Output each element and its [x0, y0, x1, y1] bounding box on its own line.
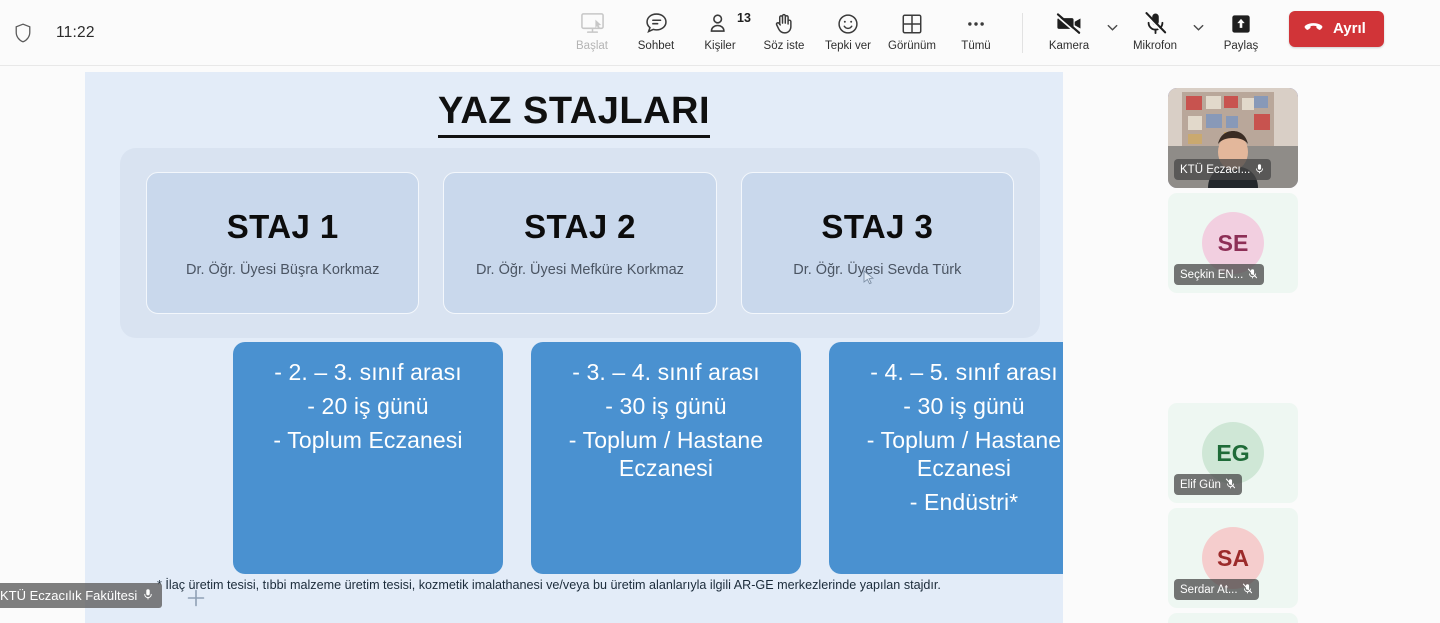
staj-3-instructor: Dr. Öğr. Üyesi Sevda Türk [793, 262, 961, 278]
toolbar-button-baslat[interactable]: Başlat [560, 0, 624, 52]
avatar-initials: EG [1216, 440, 1249, 467]
toolbar-button-mikrofon[interactable]: Mikrofon [1123, 0, 1187, 52]
toolbar-label-gorunum: Görünüm [888, 40, 936, 52]
presentation-slide: YAZ STAJLARI STAJ 1 Dr. Öğr. Üyesi Büşra… [85, 72, 1063, 623]
toolbar-label-tepki-ver: Tepki ver [825, 40, 871, 52]
toolbar-label-soz-iste: Söz iste [764, 40, 805, 52]
staj-2-instructor: Dr. Öğr. Üyesi Mefküre Korkmaz [476, 262, 684, 278]
camera-off-icon [1055, 9, 1084, 39]
people-count-badge: 13 [737, 11, 751, 25]
toolbar-right-group: Kamera Mikrofon [1037, 0, 1384, 66]
staj-detail-row: - 2. – 3. sınıf arası - 20 iş günü - Top… [233, 342, 1063, 574]
teams-meeting-window: 11:22 Başlat [0, 0, 1440, 623]
toolbar-label-tumu: Tümü [961, 40, 990, 52]
toolbar-label-paylas: Paylaş [1224, 40, 1259, 52]
grid-view-icon [899, 9, 925, 39]
participant-tile-empty [1168, 298, 1298, 398]
microphone-icon [1254, 163, 1265, 177]
people-icon: 13 [707, 9, 733, 39]
participant-name-pill: Elif Gün [1174, 474, 1242, 495]
staj-1-detail-line-1: - 2. – 3. sınıf arası [274, 358, 461, 386]
smiley-icon [835, 9, 861, 39]
participant-tile-eg[interactable]: EG Elif Gün [1168, 403, 1298, 503]
staj-3-detail-line-1: - 4. – 5. sınıf arası [870, 358, 1057, 386]
staj-detail-box-2: - 3. – 4. sınıf arası - 30 iş günü - Top… [531, 342, 801, 574]
mic-options-chevron-down-icon[interactable] [1187, 0, 1209, 50]
participant-rail: KTÜ Eczacı... SE Seçkin EN... [1160, 66, 1440, 623]
mouse-pointer-icon [863, 270, 875, 286]
participant-name: Elif Gün [1180, 479, 1221, 491]
toolbar-label-sohbet: Sohbet [638, 40, 674, 52]
staj-1-title: STAJ 1 [227, 208, 339, 246]
participant-name: KTÜ Eczacı... [1180, 164, 1250, 176]
toolbar-label-mikrofon: Mikrofon [1133, 40, 1177, 52]
meeting-clock: 11:22 [56, 24, 95, 42]
staj-header-card-2: STAJ 2 Dr. Öğr. Üyesi Mefküre Korkmaz [443, 172, 716, 314]
staj-1-detail-line-3: - Toplum Eczanesi [273, 426, 462, 454]
microphone-off-icon [1247, 268, 1258, 282]
share-tray-icon [1229, 9, 1253, 39]
leave-call-button[interactable]: Ayrıl [1289, 11, 1384, 47]
meeting-toolbar: 11:22 Başlat [0, 0, 1440, 66]
participant-tile-video-active[interactable]: KTÜ Eczacı... [1168, 88, 1298, 188]
microphone-off-icon [1143, 9, 1168, 39]
staj-2-detail-line-2: - 30 iş günü [605, 392, 726, 420]
avatar-initials: SA [1217, 545, 1249, 572]
self-view-name-pill: KTÜ Eczacılık Fakültesi [0, 583, 162, 608]
toolbar-label-baslat: Başlat [576, 40, 608, 52]
toolbar-label-kisiler: Kişiler [704, 40, 735, 52]
microphone-off-icon [1242, 583, 1253, 597]
staj-1-detail-line-2: - 20 iş günü [307, 392, 428, 420]
staj-3-detail-line-4: - Endüstri* [910, 488, 1018, 516]
slide-title: YAZ STAJLARI [85, 90, 1063, 133]
shield-icon [12, 21, 34, 45]
toolbar-center-actions: Başlat Sohbet 13 [560, 0, 1037, 66]
toolbar-button-kamera[interactable]: Kamera [1037, 0, 1101, 52]
toolbar-button-soz-iste[interactable]: Söz iste [752, 0, 816, 52]
toolbar-label-kamera: Kamera [1049, 40, 1089, 52]
staj-3-title: STAJ 3 [821, 208, 933, 246]
toolbar-button-tepki-ver[interactable]: Tepki ver [816, 0, 880, 52]
shared-content-stage[interactable]: YAZ STAJLARI STAJ 1 Dr. Öğr. Üyesi Büşra… [0, 66, 1160, 623]
staj-header-panel: STAJ 1 Dr. Öğr. Üyesi Büşra Korkmaz STAJ… [120, 148, 1040, 338]
staj-3-detail-line-2: - 30 iş günü [903, 392, 1024, 420]
toolbar-button-tumu[interactable]: Tümü [944, 0, 1008, 52]
toolbar-button-kisiler[interactable]: 13 Kişiler [688, 0, 752, 52]
toolbar-button-gorunum[interactable]: Görünüm [880, 0, 944, 52]
microphone-off-icon [1225, 478, 1236, 492]
participant-tile-se[interactable]: SE Seçkin EN... [1168, 193, 1298, 293]
slide-footnote: * İlaç üretim tesisi, tıbbi malzeme üret… [157, 577, 1025, 595]
staj-2-title: STAJ 2 [524, 208, 636, 246]
staj-3-detail-line-3: - Toplum / Hastane Eczanesi [841, 426, 1063, 482]
toolbar-divider [1022, 13, 1023, 53]
more-ellipsis-icon [963, 9, 989, 39]
staj-detail-box-1: - 2. – 3. sınıf arası - 20 iş günü - Top… [233, 342, 503, 574]
participant-tile-sa[interactable]: SA Serdar At... [1168, 508, 1298, 608]
participant-tile-grid: KTÜ Eczacı... SE Seçkin EN... [1168, 88, 1432, 623]
toolbar-left-group: 11:22 [0, 21, 560, 45]
staj-2-detail-line-1: - 3. – 4. sınıf arası [572, 358, 759, 386]
participant-name: Seçkin EN... [1180, 269, 1243, 281]
participant-name-pill: Serdar At... [1174, 579, 1259, 600]
camera-options-chevron-down-icon[interactable] [1101, 0, 1123, 50]
present-screen-icon [579, 9, 606, 39]
staj-header-card-1: STAJ 1 Dr. Öğr. Üyesi Büşra Korkmaz [146, 172, 419, 314]
slide-title-text: YAZ STAJLARI [438, 90, 710, 138]
microphone-icon [142, 588, 154, 603]
toolbar-button-paylas[interactable]: Paylaş [1209, 0, 1273, 52]
raise-hand-icon [771, 9, 797, 39]
crosshair-cursor-icon [186, 588, 206, 608]
participant-name-pill: Seçkin EN... [1174, 264, 1264, 285]
self-view-name: KTÜ Eczacılık Fakültesi [0, 588, 137, 603]
leave-call-label: Ayrıl [1333, 20, 1366, 37]
staj-header-card-3: STAJ 3 Dr. Öğr. Üyesi Sevda Türk [741, 172, 1014, 314]
hangup-phone-icon [1303, 16, 1324, 41]
toolbar-button-sohbet[interactable]: Sohbet [624, 0, 688, 52]
staj-detail-box-3: - 4. – 5. sınıf arası - 30 iş günü - Top… [829, 342, 1063, 574]
staj-1-instructor: Dr. Öğr. Üyesi Büşra Korkmaz [186, 262, 379, 278]
participant-name-pill: KTÜ Eczacı... [1174, 159, 1271, 180]
chat-bubble-icon [643, 9, 670, 39]
staj-2-detail-line-3: - Toplum / Hastane Eczanesi [543, 426, 789, 482]
participant-name: Serdar At... [1180, 584, 1238, 596]
participant-tile-ek[interactable]: EK Ecz.Melte... [1168, 613, 1298, 623]
avatar-initials: SE [1218, 230, 1249, 257]
